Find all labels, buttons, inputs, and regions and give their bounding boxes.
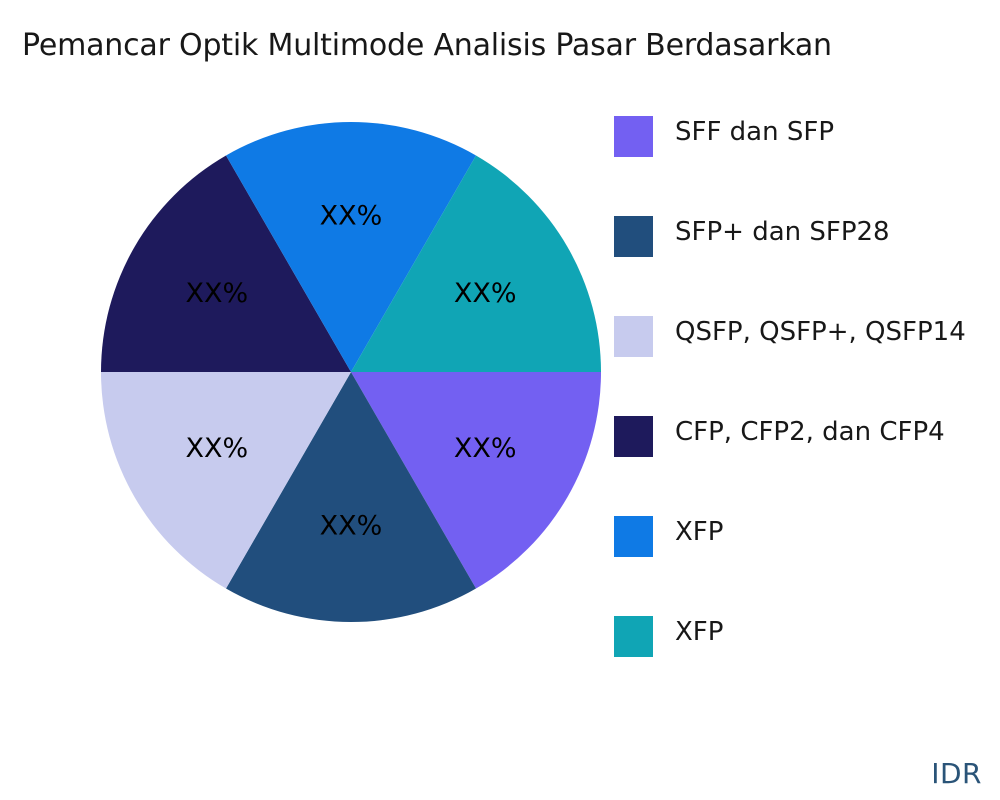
page-title: Pemancar Optik Multimode Analisis Pasar … <box>22 22 1000 70</box>
legend-swatch-xfp-teal <box>614 616 653 657</box>
pie-chart-svg: XX%XX%XX%XX%XX%XX% <box>101 121 601 623</box>
legend-item[interactable]: QSFP, QSFP+, QSFP14 <box>614 312 1000 412</box>
legend-swatch-qsfp <box>614 316 653 357</box>
pie-slice-label: XX% <box>185 433 248 464</box>
legend-swatch-cfp <box>614 416 653 457</box>
legend-item[interactable]: SFF dan SFP <box>614 112 1000 212</box>
pie-slice-label: XX% <box>454 433 517 464</box>
legend-label: SFP+ dan SFP28 <box>675 212 890 253</box>
legend-label: XFP <box>675 612 723 653</box>
legend-label: CFP, CFP2, dan CFP4 <box>675 412 945 453</box>
legend-label: XFP <box>675 512 723 553</box>
legend-item[interactable]: SFP+ dan SFP28 <box>614 212 1000 312</box>
legend-swatch-xfp-blue <box>614 516 653 557</box>
pie-chart: XX%XX%XX%XX%XX%XX% <box>101 121 601 623</box>
legend-item[interactable]: XFP <box>614 512 1000 612</box>
legend-item[interactable]: XFP <box>614 612 1000 712</box>
legend-label: SFF dan SFP <box>675 112 834 153</box>
legend-swatch-sff-dan-sfp <box>614 116 653 157</box>
chart-legend: SFF dan SFP SFP+ dan SFP28 QSFP, QSFP+, … <box>614 112 1000 712</box>
pie-slice-label: XX% <box>320 511 383 542</box>
pie-slice-label: XX% <box>320 201 383 232</box>
pie-slice-label: XX% <box>454 278 517 309</box>
pie-slice-label: XX% <box>185 278 248 309</box>
legend-swatch-sfp-plus-dan-sfp28 <box>614 216 653 257</box>
legend-label: QSFP, QSFP+, QSFP14 <box>675 312 966 353</box>
legend-item[interactable]: CFP, CFP2, dan CFP4 <box>614 412 1000 512</box>
currency-note: IDR <box>931 757 982 790</box>
